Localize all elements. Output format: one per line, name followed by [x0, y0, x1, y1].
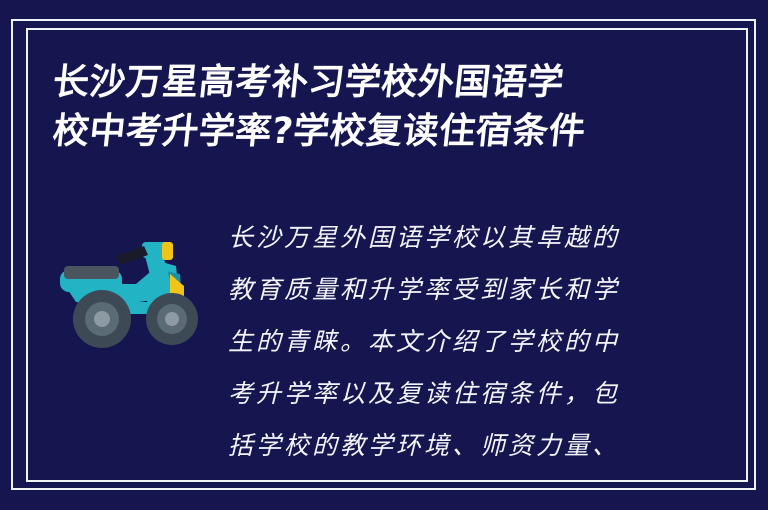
- body-line-1: 长沙万星外国语学校以其卓越的: [228, 212, 658, 264]
- scooter-handlebar: [116, 246, 148, 265]
- body-text: 长沙万星外国语学校以其卓越的 教育质量和升学率受到家长和学 生的青睐。本文介绍了…: [228, 212, 658, 472]
- title-line-2: 校中考升学率?学校复读住宿条件: [50, 107, 675, 156]
- page-title: 长沙万星高考补习学校外国语学 校中考升学率?学校复读住宿条件: [53, 58, 673, 156]
- body-line-4: 考升学率以及复读住宿条件，包: [228, 368, 658, 420]
- body-line-3: 生的青睐。本文介绍了学校的中: [228, 316, 658, 368]
- scooter-rear-wheel: [73, 290, 131, 348]
- body-line-2: 教育质量和升学率受到家长和学: [228, 264, 658, 316]
- article-card: 长沙万星高考补习学校外国语学 校中考升学率?学校复读住宿条件: [0, 0, 768, 510]
- scooter-illustration: [58, 222, 203, 350]
- body-line-5: 括学校的教学环境、师资力量、: [228, 420, 658, 472]
- title-line-1: 长沙万星高考补习学校外国语学: [50, 58, 675, 107]
- scooter-front-wheel: [146, 293, 198, 345]
